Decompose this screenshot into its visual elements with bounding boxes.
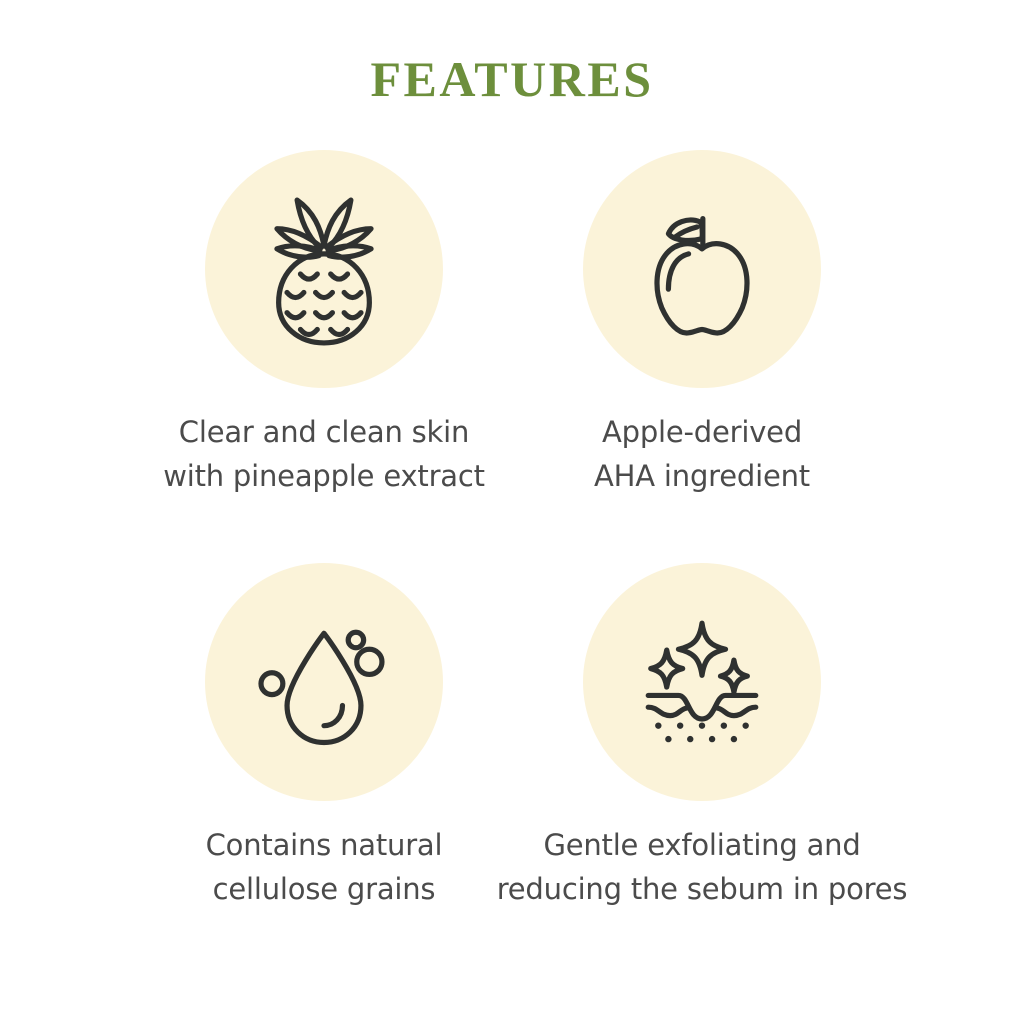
icon-badge	[583, 150, 821, 388]
caption-line: Gentle exfoliating and	[472, 823, 932, 867]
icon-badge	[205, 563, 443, 801]
sparkling-skin-pores-icon	[618, 598, 786, 766]
caption-line: reducing the sebum in pores	[472, 867, 932, 911]
features-grid: Clear and clean skin with pineapple extr…	[0, 150, 1024, 980]
pineapple-icon	[240, 185, 408, 353]
icon-badge	[583, 563, 821, 801]
features-infographic: FEATURES	[0, 0, 1024, 1024]
feature-caption: Apple-derived AHA ingredient	[472, 410, 932, 498]
caption-line: AHA ingredient	[472, 454, 932, 498]
feature-caption: Gentle exfoliating and reducing the sebu…	[472, 823, 932, 911]
feature-item: Apple-derived AHA ingredient	[472, 150, 932, 498]
water-drop-icon	[240, 598, 408, 766]
apple-icon	[618, 185, 786, 353]
caption-line: Apple-derived	[472, 410, 932, 454]
icon-badge	[205, 150, 443, 388]
page-title: FEATURES	[0, 54, 1024, 104]
feature-item: Gentle exfoliating and reducing the sebu…	[472, 563, 932, 911]
